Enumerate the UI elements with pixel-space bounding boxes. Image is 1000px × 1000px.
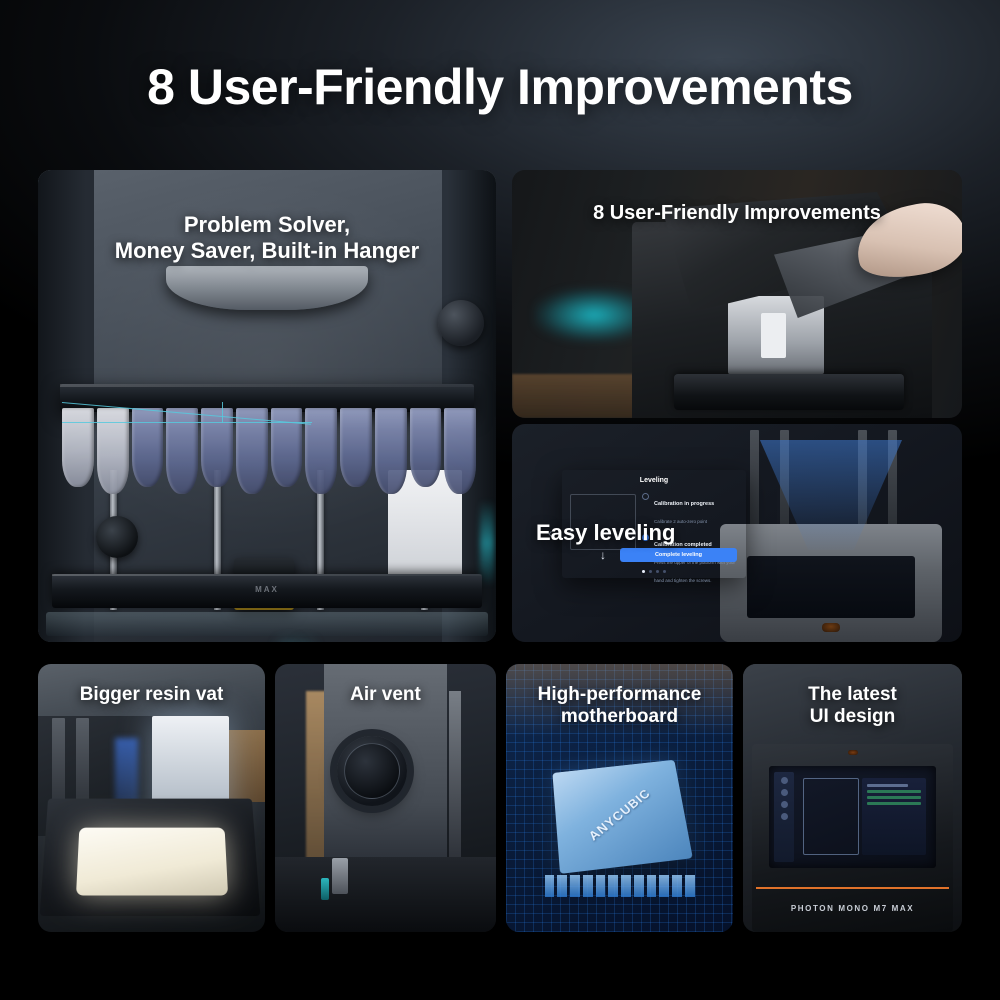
vat-glass — [46, 612, 488, 636]
panel-caption: 8 User-Friendly Improvements — [512, 202, 962, 226]
resin-vat — [40, 799, 261, 916]
step-indicator-icon — [642, 493, 649, 500]
sidebar-icon-tools[interactable] — [781, 801, 788, 808]
complete-leveling-button[interactable]: Complete leveling — [620, 548, 737, 562]
angle-guide-vertical — [222, 402, 223, 423]
panel-caption: Air vent — [275, 684, 496, 706]
air-vent-fan-icon — [337, 736, 407, 806]
panel-caption: The latest UI design — [743, 684, 962, 729]
panel-caption: Bigger resin vat — [38, 684, 265, 706]
panel-latest-ui-design[interactable]: PHOTON MONO M7 MAX The latest UI design — [743, 664, 962, 932]
printer-illustration — [720, 430, 942, 642]
processor-chip: ANYCUBIC — [552, 760, 692, 874]
caption-line-2: Money Saver, Built-in Hanger — [38, 238, 496, 264]
sidebar-icon-print[interactable] — [781, 789, 788, 796]
ambient-teal-light — [480, 500, 494, 586]
panel-built-in-hanger[interactable]: 5° MAX Problem Solver, Money Saver, Buil… — [38, 170, 496, 642]
step-1-title: Calibration in progress — [654, 501, 714, 507]
panel-bigger-resin-vat[interactable]: Bigger resin vat — [38, 664, 265, 932]
screen-sidebar[interactable] — [774, 772, 794, 862]
panel-easy-leveling[interactable]: Easy leveling ‹ Leveling ↓ Calibration i… — [512, 424, 962, 642]
panel-high-performance-motherboard[interactable]: ANYCUBIC High-performance motherboard — [506, 664, 733, 932]
angle-guide-lines — [62, 402, 312, 424]
resin-vat — [674, 374, 904, 410]
brand-accent-line — [756, 887, 949, 889]
angle-value-label: 5° — [280, 638, 313, 642]
caption-line-1: The latest — [743, 684, 962, 706]
power-indicator — [848, 750, 858, 755]
leveling-screen-title: Leveling — [571, 477, 737, 484]
resin-pool-glow — [76, 827, 229, 896]
chip-brand-label: ANYCUBIC — [585, 786, 653, 843]
page-indicator-dots[interactable] — [642, 570, 666, 573]
printer-model-illustration — [803, 778, 860, 855]
caption-line-1: Problem Solver, — [38, 212, 496, 238]
printer-touchscreen[interactable] — [747, 556, 916, 618]
panel-caption: High-performance motherboard — [506, 684, 733, 729]
resin-vat-rail: MAX — [52, 574, 482, 608]
power-button[interactable] — [822, 623, 840, 632]
status-info-card — [862, 778, 925, 855]
sidebar-icon-home[interactable] — [781, 777, 788, 784]
teal-accent-object — [321, 878, 329, 900]
angle-guide-horizontal — [62, 422, 312, 423]
printer-touchscreen[interactable] — [769, 766, 935, 868]
sidebar-icon-settings[interactable] — [781, 813, 788, 820]
printer-base — [275, 857, 496, 932]
panel-caption: Problem Solver, Money Saver, Built-in Ha… — [38, 212, 496, 264]
product-brand-label: PHOTON MONO M7 MAX — [743, 904, 962, 913]
panel-caption: Easy leveling — [536, 520, 675, 546]
poster-root: 8 User-Friendly Improvements 5° MAX — [0, 0, 1000, 1000]
step-2-desc: Press the upper of the platform with you… — [654, 560, 735, 583]
down-arrow-icon: ↓ — [600, 548, 606, 562]
interior-vent-icon — [96, 516, 138, 558]
printer-knob — [438, 300, 484, 346]
caption-line-1: High-performance — [506, 684, 733, 706]
caption-line-2: motherboard — [506, 706, 733, 728]
vertical-rail — [449, 691, 461, 868]
resin-bottle — [332, 858, 348, 894]
panel-air-vent[interactable]: Air vent — [275, 664, 496, 932]
page-title: 8 User-Friendly Improvements — [0, 58, 1000, 116]
caption-line-2: UI design — [743, 706, 962, 728]
plate-max-label: MAX — [52, 585, 482, 594]
panel-improvements-overview[interactable]: 8 User-Friendly Improvements — [512, 170, 962, 418]
chip-pins — [545, 875, 695, 897]
